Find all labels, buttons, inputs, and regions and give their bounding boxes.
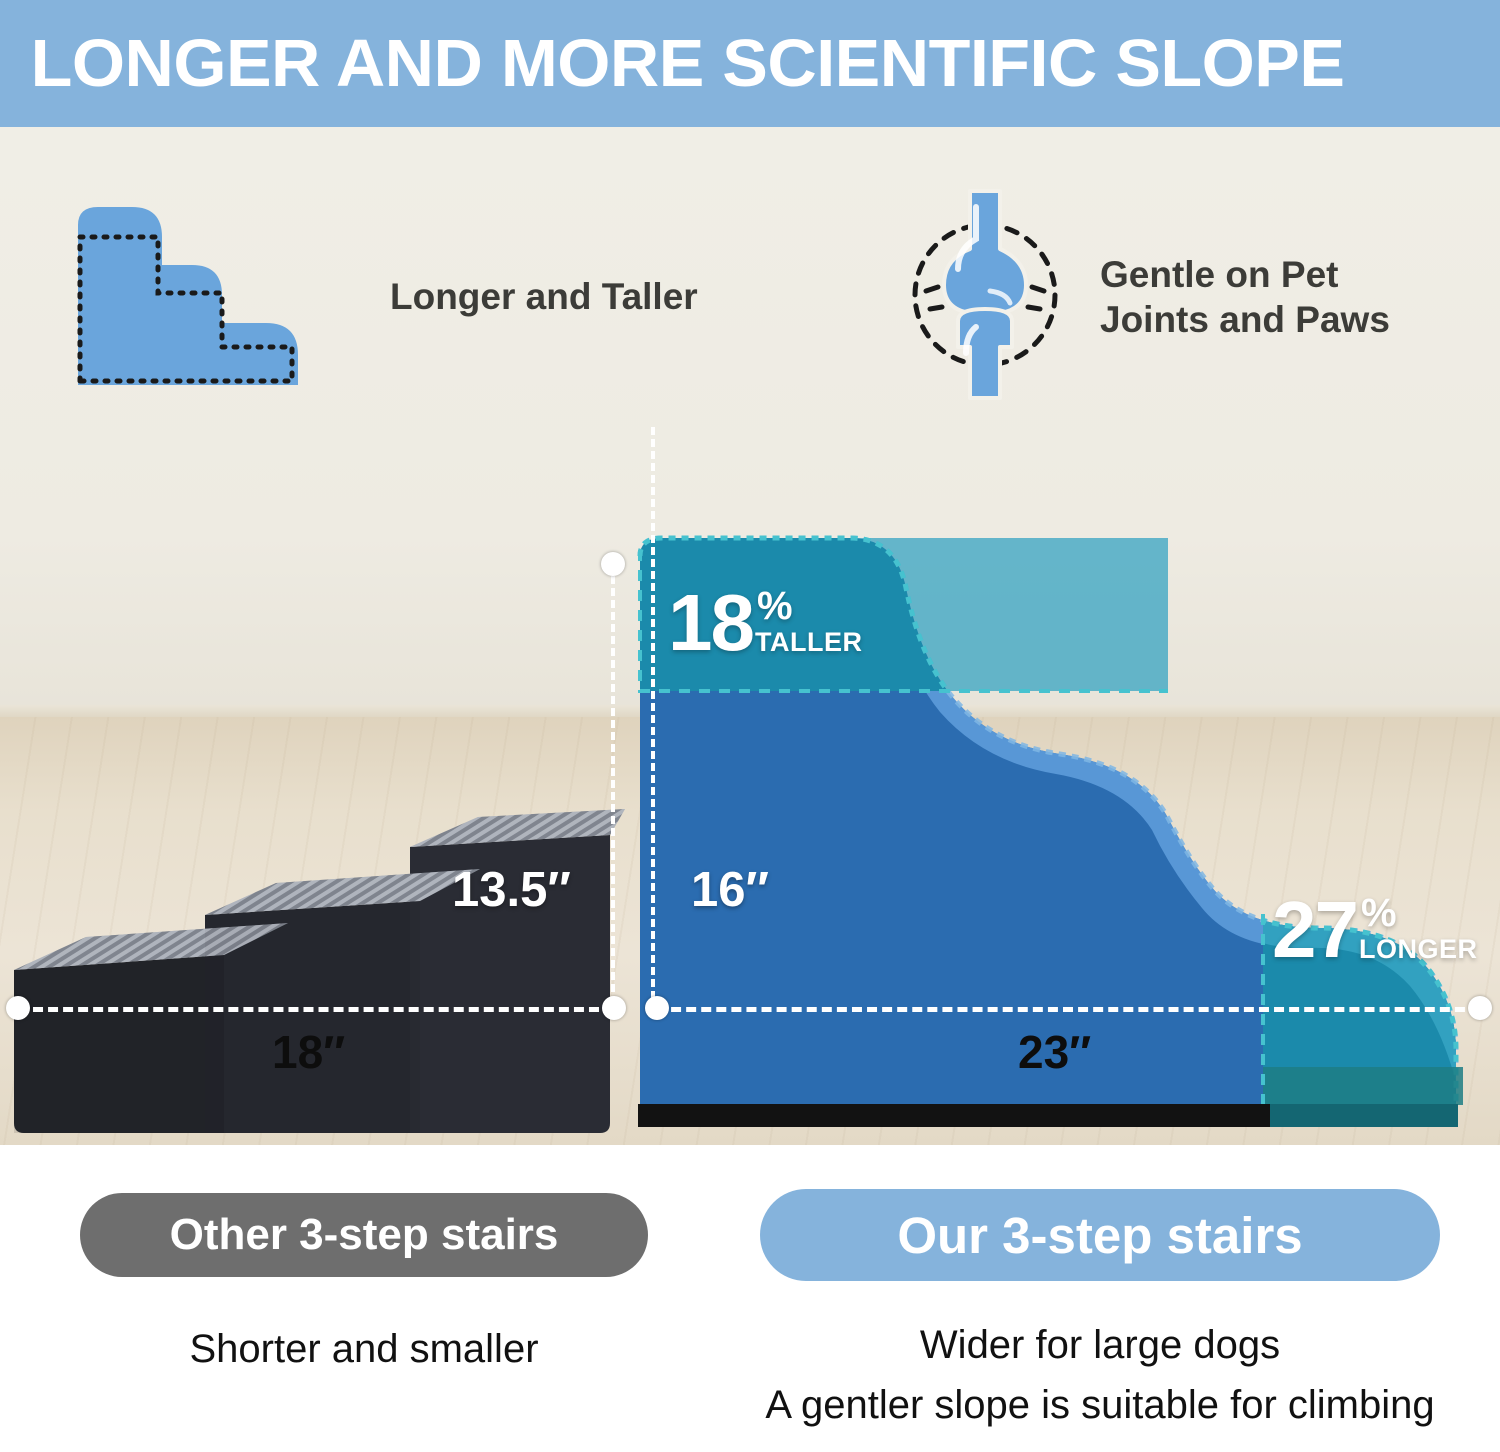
width-guide-ours (656, 1007, 1480, 1012)
badge-subtext: LONGER (1359, 934, 1478, 964)
label-pill-other-stairs: Other 3-step stairs (80, 1193, 648, 1277)
joint-bone-icon (900, 187, 1070, 407)
badge-percent-sign: % (757, 585, 793, 627)
dimension-dot (645, 996, 669, 1020)
width-label-ours: 23″ (1018, 1025, 1091, 1079)
stairs-outline-icon (70, 199, 360, 394)
badge-number: 18 (668, 589, 753, 657)
dimension-dot (6, 996, 30, 1020)
height-label-other: 13.5″ (452, 862, 571, 918)
feature-gentle-on-joints: Gentle on Pet Joints and Paws (900, 187, 1390, 407)
width-guide-other (18, 1007, 614, 1012)
status-badge-longer: 27 % LONGER (1272, 892, 1478, 964)
badge-subtext: TALLER (755, 627, 862, 657)
caption-our-stairs-line2: A gentler slope is suitable for climbing (700, 1383, 1500, 1428)
height-guide-ours (651, 427, 655, 999)
feature-longer-and-taller: Longer and Taller (70, 199, 698, 394)
dimension-dot (602, 996, 626, 1020)
width-label-other: 18″ (272, 1025, 345, 1079)
dimension-dot (601, 552, 625, 576)
badge-number: 27 (1272, 896, 1357, 964)
label-pill-our-stairs: Our 3-step stairs (760, 1189, 1440, 1281)
dimension-dot (1468, 996, 1492, 1020)
badge-percent-sign: % (1361, 892, 1397, 934)
feature-label: Gentle on Pet Joints and Paws (1100, 252, 1390, 342)
other-product-stairs (10, 805, 620, 1135)
caption-our-stairs-line1: Wider for large dogs (740, 1323, 1460, 1368)
caption-other-stairs: Shorter and smaller (80, 1327, 648, 1372)
page-title: LONGER AND MORE SCIENTIFIC SLOPE (0, 25, 1344, 102)
height-guide-other (611, 564, 615, 1004)
header-banner: LONGER AND MORE SCIENTIFIC SLOPE (0, 0, 1500, 127)
product-comparison-scene: Longer and Taller Gentle on Pet Joints a… (0, 127, 1500, 1145)
feature-label: Longer and Taller (390, 274, 698, 319)
height-label-ours: 16″ (691, 862, 769, 918)
comparison-footer: Other 3-step stairs Our 3-step stairs Sh… (0, 1145, 1500, 1452)
status-badge-taller: 18 % TALLER (668, 585, 862, 657)
